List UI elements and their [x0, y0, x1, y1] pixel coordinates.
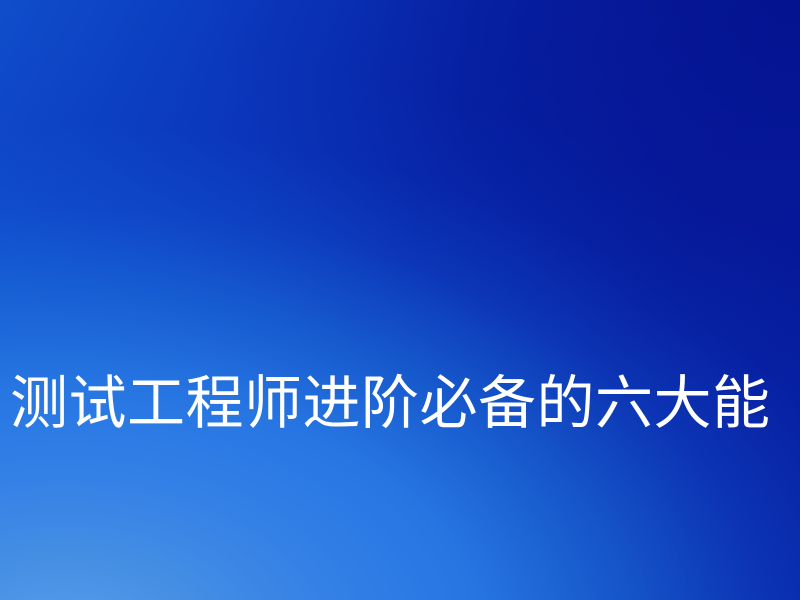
headline-line-1: 测试工程师进阶必备的六大能 [10, 364, 800, 442]
article-cover-banner: 测试工程师进阶必备的六大能 力！ 你缺少哪个？ [0, 0, 800, 600]
banner-headline: 测试工程师进阶必备的六大能 力！ 你缺少哪个？ [10, 208, 800, 600]
